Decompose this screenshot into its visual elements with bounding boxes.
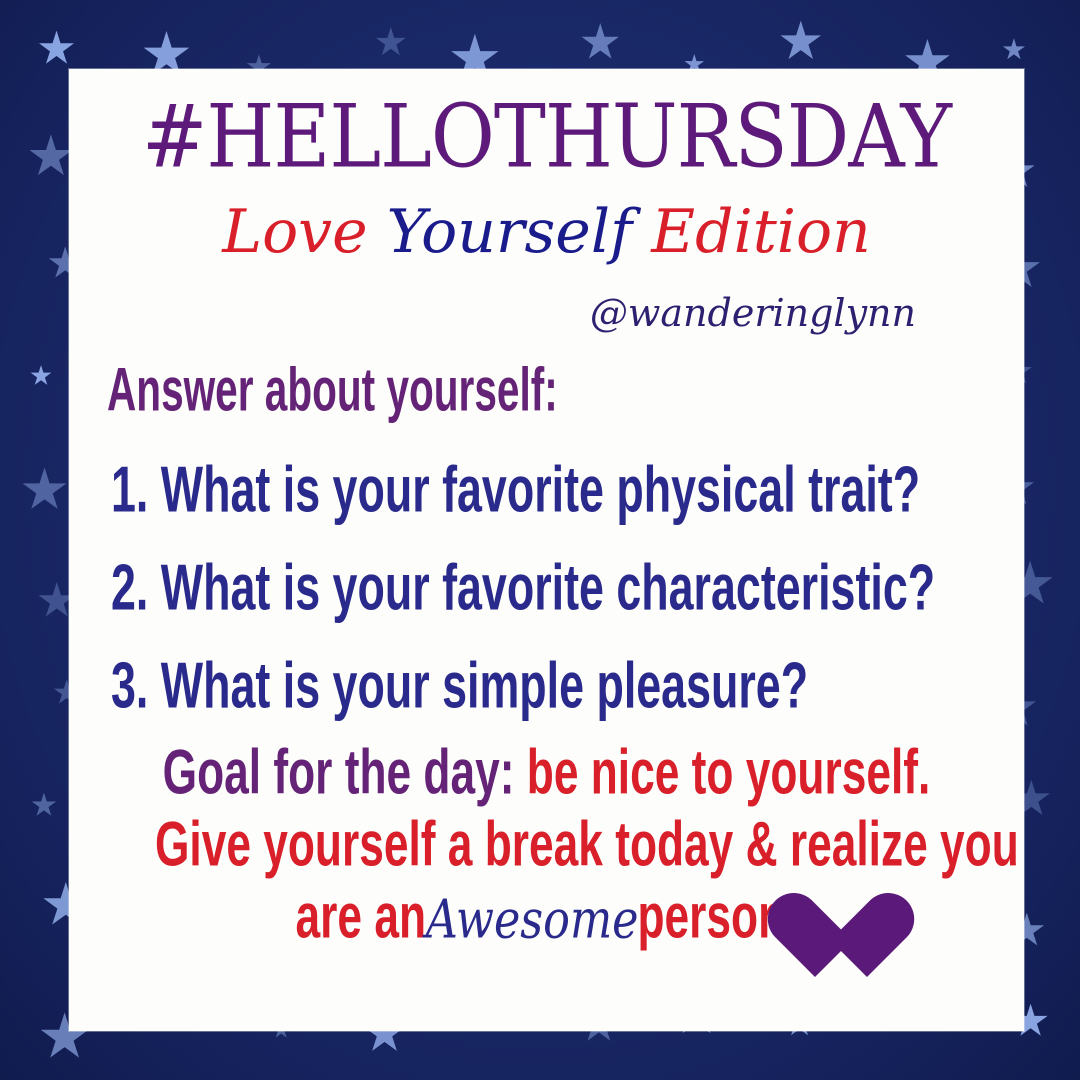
star-icon [29, 134, 74, 179]
page-title: #HELLOTHURSDAY [69, 87, 1024, 188]
subtitle-word-edition: Edition [651, 197, 870, 267]
poster: #HELLOTHURSDAY Love Yourself Edition @wa… [0, 0, 1080, 1080]
question-item-3: 3. What is your simple pleasure? [111, 647, 808, 722]
star-icon [38, 31, 74, 67]
goal-line-3-pre: are an [296, 882, 439, 952]
subtitle: Love Yourself Edition [69, 197, 1024, 267]
heart-icon [815, 895, 907, 981]
question-item-2: 2. What is your favorite characteristic? [111, 549, 935, 624]
question-item-1: 1. What is your favorite physical trait? [111, 451, 920, 526]
subtitle-word-yourself: Yourself [387, 197, 633, 267]
star-icon [581, 23, 620, 62]
goal-label: Goal for the day: [163, 738, 515, 808]
star-icon [375, 27, 406, 58]
star-icon [31, 793, 56, 818]
subtitle-word-love: Love [222, 197, 367, 267]
goal-word-awesome: Awesome [422, 892, 643, 945]
star-icon [780, 21, 822, 63]
star-icon [22, 467, 68, 513]
star-icon [30, 365, 52, 387]
goal-line-2: Give yourself a break today & realize yo… [155, 813, 938, 897]
goal-line-1-rest: be nice to yourself. [514, 738, 930, 808]
white-card: #HELLOTHURSDAY Love Yourself Edition @wa… [69, 69, 1024, 1031]
author-handle: @wanderinglynn [590, 291, 916, 335]
star-icon [1002, 38, 1025, 61]
prompt-label: Answer about yourself: [107, 355, 558, 426]
